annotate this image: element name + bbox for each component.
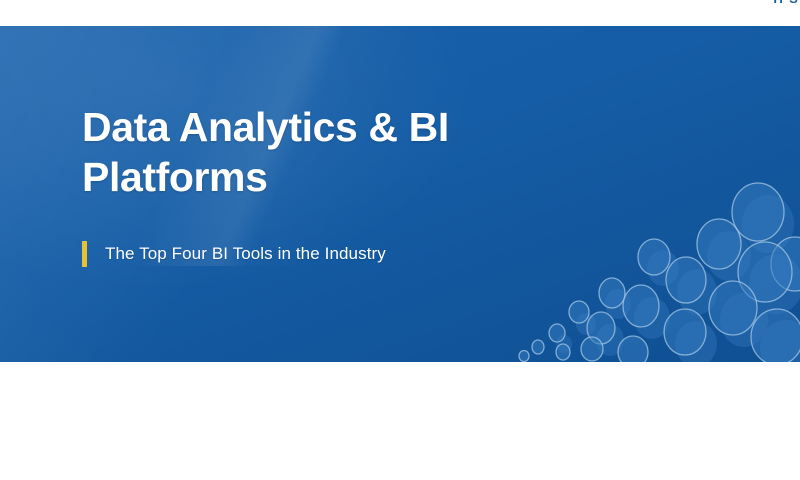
subtitle-row: The Top Four BI Tools in the Industry [82,241,642,267]
slide-canvas: IT S [0,0,800,480]
accent-bar [82,241,87,267]
hero-banner: Data Analytics & BI Platforms The Top Fo… [0,26,800,362]
top-clipped-strip: IT S [0,0,800,26]
clipped-header-text: IT S [773,0,798,6]
page-subtitle: The Top Four BI Tools in the Industry [105,243,386,265]
content-area [0,362,800,480]
hero-text-block: Data Analytics & BI Platforms The Top Fo… [82,102,642,267]
page-title: Data Analytics & BI Platforms [82,102,522,202]
